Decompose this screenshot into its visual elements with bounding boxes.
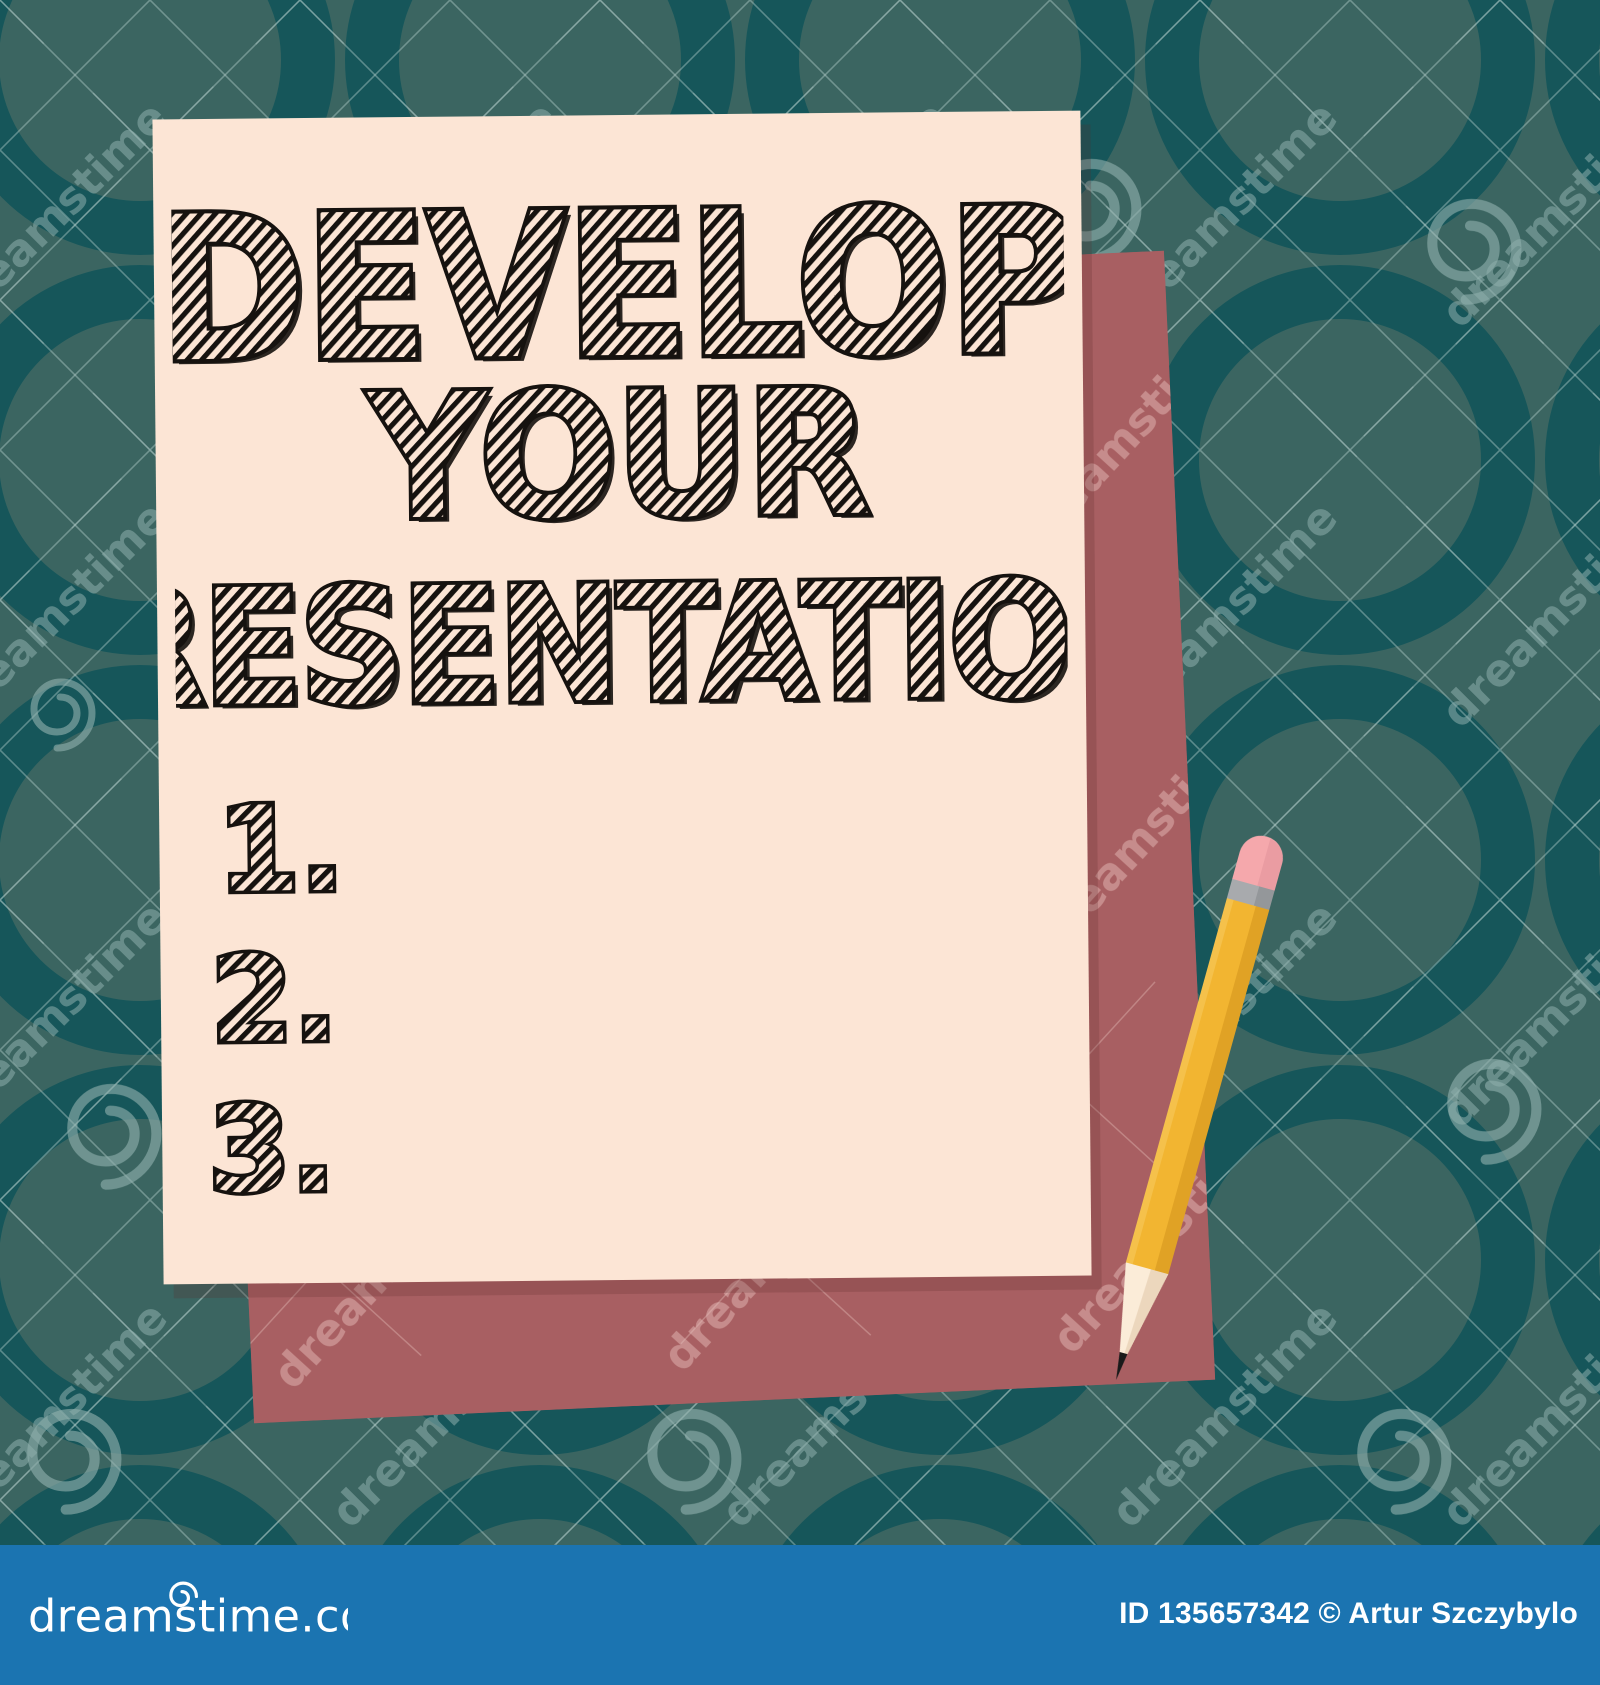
- dreamstime-logo-text: dreamstime.com: [28, 1590, 348, 1642]
- headline-text: DEVELOP YOUR PRESENTATION!: [171, 173, 1068, 712]
- front-sheet: DEVELOP YOUR PRESENTATION!: [152, 111, 1091, 1285]
- list-number-1: 1.: [217, 780, 345, 919]
- numbered-list: 1. 2. 3.: [199, 777, 403, 1209]
- pencil-tip: [1112, 1352, 1127, 1381]
- paper-stack: dreamstime dreamstime dreamstime dreamst…: [0, 0, 1600, 1545]
- list-number-2: 2.: [210, 930, 338, 1069]
- watermark-footer-bar: dreamstime.com ID 135657342 © Artur Szcz…: [0, 1545, 1600, 1685]
- dreamstime-logo[interactable]: dreamstime.com: [28, 1581, 348, 1643]
- image-credit: ID 135657342 © Artur Szczybylo: [1119, 1597, 1578, 1631]
- stock-photo-canvas: dreamstime dreamstime dreamstime dreamst…: [0, 0, 1600, 1685]
- list-number-3: 3.: [208, 1080, 336, 1209]
